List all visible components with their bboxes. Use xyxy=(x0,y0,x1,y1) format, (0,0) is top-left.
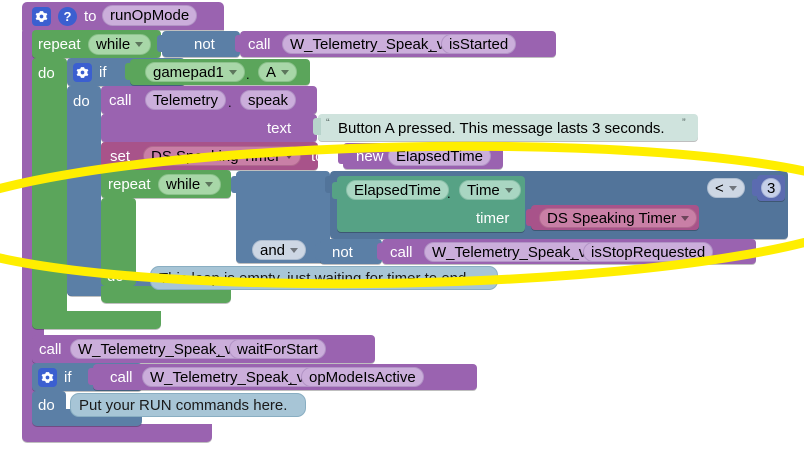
chevron-down-icon xyxy=(281,70,289,75)
outer-not-socket xyxy=(157,35,165,52)
inner-not-label: not xyxy=(332,245,353,260)
number-value-text: 3 xyxy=(767,181,775,196)
waitforstart-method-text: waitForStart xyxy=(237,342,318,357)
isstoprequested-object-text: W_Telemetry_Speak_v02 xyxy=(432,245,603,260)
outer-repeat-mode-dropdown[interactable]: while xyxy=(88,34,151,55)
outer-not-label: not xyxy=(194,37,215,52)
outer-repeat-left-rail xyxy=(32,58,67,329)
set-timer-notch xyxy=(113,142,131,147)
isstoprequested-socket xyxy=(377,243,385,260)
outer-repeat-bottom-bar xyxy=(32,311,161,329)
new-elapsedtime-socket xyxy=(338,147,346,164)
set-timer-variable-dropdown[interactable]: DS Speaking Timer xyxy=(143,146,301,166)
new-elapsedtime-type-text: ElapsedTime xyxy=(396,149,483,164)
new-elapsedtime-type-field[interactable]: ElapsedTime xyxy=(388,146,491,166)
timer-variable-text: DS Speaking Timer xyxy=(547,211,676,226)
gamepad-property-socket xyxy=(125,63,133,80)
procedure-to-label: to xyxy=(84,9,97,24)
gamepad-object-text: gamepad1 xyxy=(153,65,224,80)
telemetry-speak-call-label: call xyxy=(109,93,132,108)
inner-repeat-do-label: do xyxy=(107,269,124,284)
opmodeisactive-call-label: call xyxy=(110,370,133,385)
if-gamepad-do-label: do xyxy=(73,94,90,109)
and-operator-dropdown[interactable]: and xyxy=(252,240,306,260)
timer-variable-dropdown[interactable]: DS Speaking Timer xyxy=(539,208,697,228)
blockly-canvas[interactable]: ? to runOpMode repeat while do not call … xyxy=(0,0,804,453)
outer-isstarted-dot: . xyxy=(429,40,433,53)
outer-repeat-do-label: do xyxy=(38,66,55,81)
and-operator-socket xyxy=(231,176,239,193)
elapsedtime-property-text: Time xyxy=(467,183,500,198)
gear-icon[interactable] xyxy=(38,368,57,387)
if-gamepad-left-rail xyxy=(67,86,101,296)
gamepad-property-dropdown[interactable]: A xyxy=(258,62,297,82)
speak-string-open-quote: “ xyxy=(326,118,330,129)
elapsedtime-property-dropdown[interactable]: Time xyxy=(459,180,521,200)
chevron-down-icon xyxy=(290,248,298,253)
opmodeisactive-dot: . xyxy=(289,373,293,386)
chevron-down-icon xyxy=(681,216,689,221)
outer-repeat-label: repeat xyxy=(38,37,81,52)
if-active-if-label: if xyxy=(64,370,72,385)
chevron-down-icon xyxy=(135,42,143,47)
speak-string-close-quote: ” xyxy=(682,118,686,129)
chevron-down-icon xyxy=(205,182,213,187)
waitforstart-method-field[interactable]: waitForStart xyxy=(229,339,326,359)
isstoprequested-call-label: call xyxy=(390,245,413,260)
gamepad-property-text: A xyxy=(266,65,276,80)
opmodeisactive-object-text: W_Telemetry_Speak_v02 xyxy=(150,370,321,385)
timer-variable-socket xyxy=(526,209,534,226)
telemetry-speak-object-field[interactable]: Telemetry xyxy=(145,90,226,110)
gamepad-dot: . xyxy=(246,68,250,81)
opmodeisactive-socket xyxy=(88,368,96,385)
elapsedtime-object-text: ElapsedTime xyxy=(354,183,441,198)
elapsedtime-object-field[interactable]: ElapsedTime xyxy=(346,180,449,200)
speak-string-value[interactable]: Button A pressed. This message lasts 3 s… xyxy=(338,121,665,136)
outer-isstarted-method-field[interactable]: isStarted xyxy=(441,34,516,54)
telemetry-speak-object-text: Telemetry xyxy=(153,93,218,108)
compare-operator-text: < xyxy=(715,181,724,196)
procedure-bottom-bar xyxy=(22,424,212,442)
set-timer-variable-text: DS Speaking Timer xyxy=(151,149,280,164)
procedure-name-field[interactable]: runOpMode xyxy=(102,5,197,26)
isstoprequested-method-field[interactable]: isStopRequested xyxy=(583,242,713,262)
isstoprequested-method-text: isStopRequested xyxy=(591,245,705,260)
if-active-body-comment[interactable]: Put your RUN commands here. xyxy=(70,393,306,417)
chevron-down-icon xyxy=(285,154,293,159)
waitforstart-notch xyxy=(44,335,62,340)
inner-not-socket xyxy=(315,243,323,260)
number-socket xyxy=(752,179,760,196)
inner-repeat-mode-text: while xyxy=(166,177,200,192)
gear-icon[interactable] xyxy=(73,63,92,82)
question-icon[interactable]: ? xyxy=(58,7,77,26)
telemetry-speak-method-field[interactable]: speak xyxy=(240,90,296,110)
if-gamepad-if-label: if xyxy=(99,65,107,80)
outer-repeat-mode-text: while xyxy=(96,37,130,52)
outer-isstarted-call-label: call xyxy=(248,37,271,52)
elapsedtime-dot: . xyxy=(447,187,451,200)
chevron-down-icon xyxy=(505,188,513,193)
elapsedtime-timer-arg-label: timer xyxy=(476,211,509,226)
set-timer-to-label: to xyxy=(311,149,324,164)
waitforstart-object-text: W_Telemetry_Speak_v02 xyxy=(78,342,249,357)
outer-repeat-notch xyxy=(44,30,62,35)
opmodeisactive-method-field[interactable]: opModeIsActive xyxy=(301,367,424,387)
waitforstart-call-label: call xyxy=(39,342,62,357)
procedure-name-text: runOpMode xyxy=(110,8,189,23)
gear-icon[interactable] xyxy=(32,7,51,26)
elapsedtime-time-socket xyxy=(332,182,340,199)
set-timer-set-label: set xyxy=(110,149,130,164)
and-operator-text: and xyxy=(260,243,285,258)
telemetry-speak-method-text: speak xyxy=(248,93,288,108)
inner-loop-body-comment-text: This loop is empty, just waiting for tim… xyxy=(159,270,471,287)
opmodeisactive-method-text: opModeIsActive xyxy=(309,370,416,385)
outer-isstarted-socket xyxy=(235,35,243,52)
inner-repeat-mode-dropdown[interactable]: while xyxy=(158,174,221,195)
compare-operator-dropdown[interactable]: < xyxy=(707,178,745,198)
telemetry-speak-text-arg-label: text xyxy=(267,121,291,136)
isstoprequested-dot: . xyxy=(571,248,575,261)
outer-isstarted-method-text: isStarted xyxy=(449,37,508,52)
new-elapsedtime-new-label: new xyxy=(356,149,384,164)
inner-loop-body-comment[interactable]: This loop is empty, just waiting for tim… xyxy=(150,266,498,290)
chevron-down-icon xyxy=(729,186,737,191)
waitforstart-dot: . xyxy=(217,345,221,358)
telemetry-speak-dot: . xyxy=(228,96,232,109)
if-active-do-label: do xyxy=(38,398,55,413)
if-active-body-comment-text: Put your RUN commands here. xyxy=(79,397,287,414)
gamepad-object-dropdown[interactable]: gamepad1 xyxy=(145,62,245,82)
telemetry-speak-notch xyxy=(113,86,131,91)
outer-isstarted-object-text: W_Telemetry_Speak_v02 xyxy=(290,37,461,52)
inner-repeat-notch xyxy=(113,170,131,175)
inner-repeat-label: repeat xyxy=(108,177,151,192)
chevron-down-icon xyxy=(229,70,237,75)
speak-string-socket xyxy=(313,118,321,135)
